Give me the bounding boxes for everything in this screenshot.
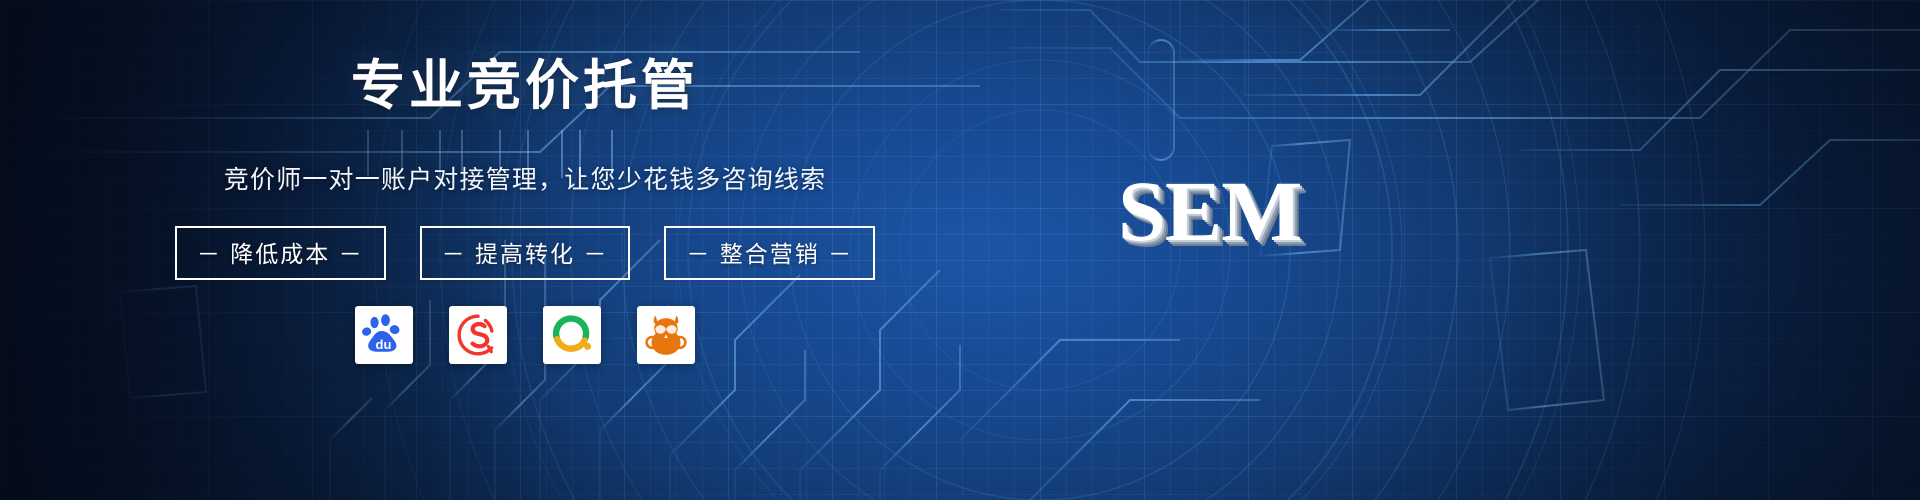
360-logo[interactable] xyxy=(543,306,601,364)
feature-badge-improve-conversion[interactable]: － 提高转化 － xyxy=(420,226,631,280)
sogou-logo[interactable] xyxy=(449,306,507,364)
banner-subtitle: 竞价师一对一账户对接管理，让您少花钱多咨询线索 xyxy=(224,160,827,196)
sem-wordmark: SEM SEM SEM SEM xyxy=(1118,172,1338,258)
svg-text:du: du xyxy=(376,337,392,352)
sem-wordmark-face: SEM xyxy=(1118,163,1301,259)
platform-logo-list: du xyxy=(355,306,695,364)
banner-title: 专业竞价托管 xyxy=(351,58,699,115)
feature-badge-integrated-marketing[interactable]: － 整合营销 － xyxy=(664,226,875,280)
banner-content: 专业竞价托管 竞价师一对一账户对接管理，让您少花钱多咨询线索 － 降低成本 － … xyxy=(0,0,1050,500)
feature-badge-list: － 降低成本 － － 提高转化 － － 整合营销 － xyxy=(175,226,875,280)
feature-badge-lower-cost[interactable]: － 降低成本 － xyxy=(175,226,386,280)
promo-banner: 专业竞价托管 竞价师一对一账户对接管理，让您少花钱多咨询线索 － 降低成本 － … xyxy=(0,0,1920,500)
baidu-logo[interactable]: du xyxy=(355,306,413,364)
shenma-logo[interactable] xyxy=(637,306,695,364)
